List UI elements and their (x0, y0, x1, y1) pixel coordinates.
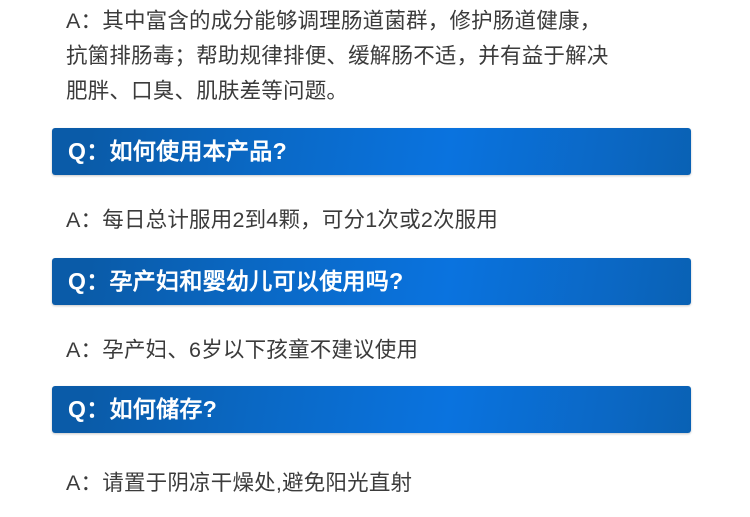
faq-question-label-1: Q：如何使用本产品? (68, 140, 287, 163)
faq-answer-1: A：每日总计服用2到4颗，可分1次或2次服用 (66, 204, 706, 236)
faq-question-bar-1[interactable]: Q：如何使用本产品? (52, 128, 691, 175)
faq-question-bar-3[interactable]: Q：如何储存? (52, 386, 691, 433)
faq-page: A：其中富含的成分能够调理肠道菌群，修护肠道健康， 抗箘排肠毒；帮助规律排便、缓… (0, 0, 750, 517)
faq-question-bar-2[interactable]: Q：孕产妇和婴幼儿可以使用吗? (52, 258, 691, 305)
intro-answer-paragraph: A：其中富含的成分能够调理肠道菌群，修护肠道健康， 抗箘排肠毒；帮助规律排便、缓… (66, 4, 696, 109)
faq-answer-3: A：请置于阴凉干燥处,避免阳光直射 (66, 467, 706, 499)
faq-answer-2: A：孕产妇、6岁以下孩童不建议使用 (66, 334, 706, 366)
faq-question-label-3: Q：如何储存? (68, 398, 217, 421)
faq-question-label-2: Q：孕产妇和婴幼儿可以使用吗? (68, 270, 403, 293)
